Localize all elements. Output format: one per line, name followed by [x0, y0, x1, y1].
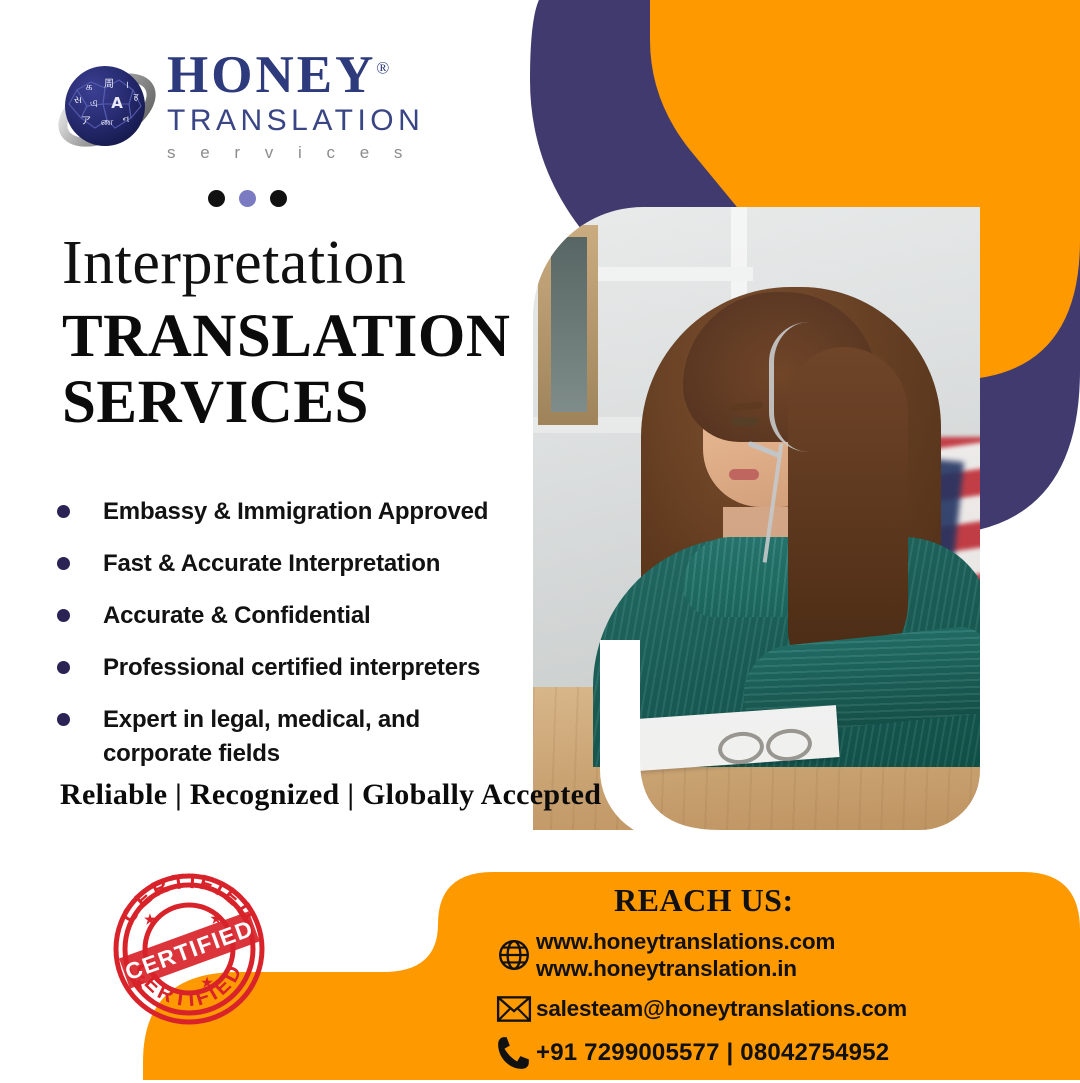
headline-script-line: Interpretation [62, 232, 532, 294]
brand-name-text: HONEY [167, 46, 376, 104]
list-item: Professional certified interpreters [57, 651, 537, 685]
phone-icon [492, 1035, 536, 1071]
svg-text:A: A [111, 94, 123, 112]
contact-list: www.honeytranslations.com www.honeytrans… [492, 928, 1052, 1083]
svg-text:।: । [125, 80, 129, 91]
globe-icon [492, 938, 536, 972]
svg-text:周: 周 [104, 78, 114, 90]
reach-us-heading: REACH US: [614, 882, 794, 919]
brand-subtitle: TRANSLATION [167, 104, 467, 138]
bullet-icon [57, 713, 70, 726]
decorative-dots [208, 190, 287, 207]
svg-text:க: க [85, 80, 92, 93]
brand-name: HONEY® [167, 48, 467, 102]
email-address[interactable]: salesteam@honeytranslations.com [536, 995, 907, 1022]
phone-numbers[interactable]: +91 7299005577 | 08042754952 [536, 1038, 889, 1067]
globe-icon: க 周 । ह સ এ A ア ண ન [55, 56, 160, 161]
list-item: Embassy & Immigration Approved [57, 495, 537, 529]
feature-label: Fast & Accurate Interpretation [103, 547, 440, 581]
registered-mark-icon: ® [376, 58, 392, 77]
headline-main-block: TRANSLATION SERVICES [62, 304, 532, 436]
bullet-icon [57, 661, 70, 674]
contact-row-email[interactable]: salesteam@honeytranslations.com [492, 995, 1052, 1023]
feature-label: Expert in legal, medical, and corporate … [103, 703, 463, 771]
contact-row-phone[interactable]: +91 7299005577 | 08042754952 [492, 1035, 1052, 1071]
svg-text:ア: ア [81, 116, 91, 127]
list-item: Expert in legal, medical, and corporate … [57, 703, 537, 771]
website-line-1[interactable]: www.honeytranslations.com [536, 928, 835, 955]
svg-text:এ: এ [90, 97, 98, 110]
envelope-icon [492, 995, 536, 1023]
logo-wordmark: HONEY® TRANSLATION s e r v i c e s [167, 48, 467, 163]
bullet-icon [57, 505, 70, 518]
feature-label: Accurate & Confidential [103, 599, 370, 633]
certified-stamp-icon: CERTIFIED CERTIFIED CERTIFIED [108, 868, 270, 1030]
website-line-2[interactable]: www.honeytranslation.in [536, 955, 835, 982]
dot-3 [270, 190, 287, 207]
contact-row-website[interactable]: www.honeytranslations.com www.honeytrans… [492, 928, 1052, 983]
svg-text:ન: ન [123, 115, 130, 125]
bullet-icon [57, 557, 70, 570]
bullet-icon [57, 609, 70, 622]
svg-text:સ: સ [74, 95, 82, 106]
list-item: Fast & Accurate Interpretation [57, 547, 537, 581]
dot-1 [208, 190, 225, 207]
website-links[interactable]: www.honeytranslations.com www.honeytrans… [536, 928, 835, 983]
headline-block: Interpretation TRANSLATION SERVICES [62, 232, 532, 436]
brand-logo: க 周 । ह સ এ A ア ண ન HONEY® TRANSLATION s… [55, 48, 415, 173]
brand-tagline: s e r v i c e s [167, 143, 467, 163]
headline-line-1: TRANSLATION [62, 304, 532, 370]
svg-text:ह: ह [134, 93, 139, 103]
dot-2 [239, 190, 256, 207]
feature-label: Professional certified interpreters [103, 651, 480, 685]
feature-list: Embassy & Immigration Approved Fast & Ac… [57, 495, 537, 789]
headline-line-2: SERVICES [62, 370, 532, 436]
list-item: Accurate & Confidential [57, 599, 537, 633]
feature-label: Embassy & Immigration Approved [103, 495, 488, 529]
svg-text:ண: ண [101, 117, 114, 128]
tagline: Reliable | Recognized | Globally Accepte… [60, 778, 601, 812]
